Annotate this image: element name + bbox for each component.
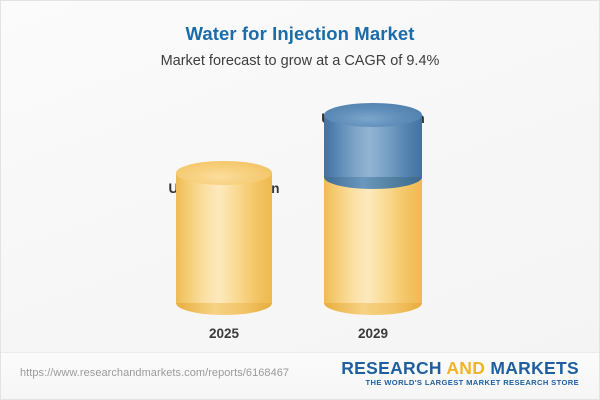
bar-segment-base-2025 xyxy=(176,173,272,303)
bar-top-cap-2029 xyxy=(324,103,422,127)
chart-canvas: Water for Injection Market Market foreca… xyxy=(0,0,600,400)
brand-tagline: THE WORLD'S LARGEST MARKET RESEARCH STOR… xyxy=(341,378,579,388)
chart-subtitle: Market forecast to grow at a CAGR of 9.4… xyxy=(1,53,599,69)
brand-word-research: RESEARCH xyxy=(341,358,442,378)
bar-top-cap-2025 xyxy=(176,161,272,185)
page-title: Water for Injection Market xyxy=(1,23,599,45)
bar-segment-base-2029 xyxy=(324,177,422,303)
bar-segment-growth-2029 xyxy=(324,115,422,177)
footer: https://www.researchandmarkets.com/repor… xyxy=(1,353,599,399)
brand-name: RESEARCH AND MARKETS xyxy=(341,359,579,378)
brand-logo: RESEARCH AND MARKETS THE WORLD'S LARGEST… xyxy=(341,359,579,388)
bar-cylinder-2029 xyxy=(324,115,422,303)
bar-body-base-2029 xyxy=(324,177,422,303)
x-axis-label-2025: 2025 xyxy=(209,326,239,341)
x-axis-label-2029: 2029 xyxy=(358,326,388,341)
bar-chart-plot-area: USD 30.45 Billion 2025 USD 43.6 Billion xyxy=(1,81,599,341)
brand-word-and: AND xyxy=(446,358,485,378)
bar-cylinder-2025 xyxy=(176,173,272,303)
bar-body-2025 xyxy=(176,173,272,303)
source-url-link[interactable]: https://www.researchandmarkets.com/repor… xyxy=(20,367,289,379)
brand-word-markets: MARKETS xyxy=(490,358,579,378)
